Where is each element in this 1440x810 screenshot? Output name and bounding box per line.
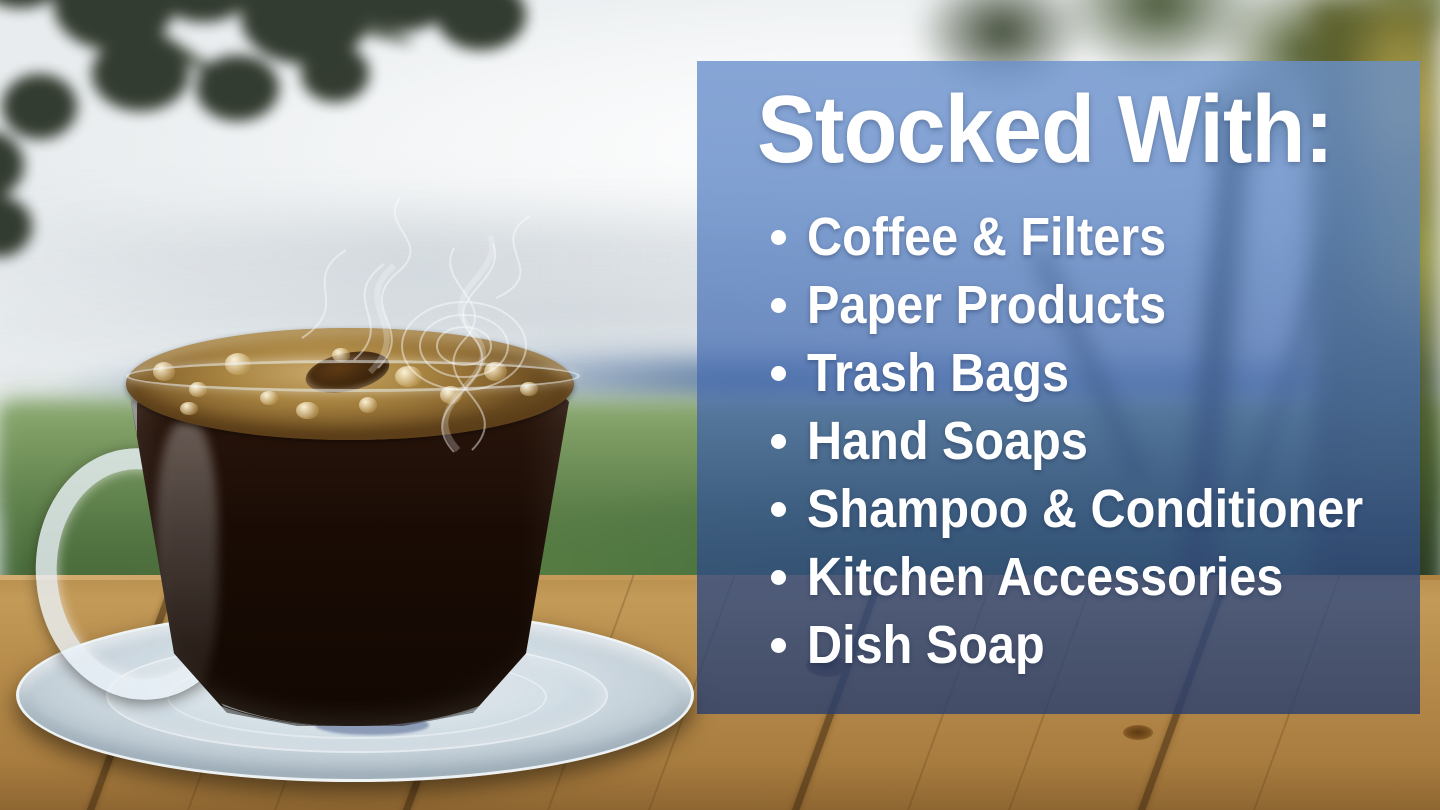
- foam-bubble: [260, 391, 278, 406]
- foam-bubble: [180, 402, 198, 415]
- leaf-cluster: [436, 0, 526, 50]
- list-item-label: Trash Bags: [807, 339, 1069, 407]
- list-item-label: Kitchen Accessories: [807, 543, 1283, 611]
- list-item: Trash Bags: [757, 339, 1390, 407]
- leaf-cluster: [0, 196, 32, 257]
- leaf-cluster: [301, 45, 368, 101]
- stocked-with-panel: Stocked With: Coffee & Filters Paper Pro…: [697, 61, 1420, 714]
- list-item: Kitchen Accessories: [757, 543, 1390, 611]
- foam-bubble: [296, 402, 318, 419]
- leaf-cluster: [2, 74, 77, 140]
- wood-knot: [1123, 725, 1153, 740]
- list-item: Coffee & Filters: [757, 203, 1390, 271]
- leaf-cluster: [196, 55, 278, 121]
- list-item: Paper Products: [757, 271, 1390, 339]
- slide-canvas: Stocked With: Coffee & Filters Paper Pro…: [0, 0, 1440, 810]
- list-item: Dish Soap: [757, 611, 1390, 679]
- page-title: Stocked With:: [757, 79, 1339, 181]
- list-item: Hand Soaps: [757, 407, 1390, 475]
- list-item: Shampoo & Conditioner: [757, 475, 1390, 543]
- stocked-items-list: Coffee & Filters Paper Products Trash Ba…: [757, 203, 1390, 679]
- cup-rim-highlight: [126, 360, 580, 392]
- list-item-label: Hand Soaps: [807, 407, 1088, 475]
- foam-bubble: [359, 397, 377, 413]
- list-item-label: Paper Products: [807, 271, 1166, 339]
- list-item-label: Dish Soap: [807, 611, 1045, 679]
- leaf-cluster: [92, 36, 189, 111]
- glass-coffee-cup: [130, 396, 570, 726]
- list-item-label: Coffee & Filters: [807, 203, 1166, 271]
- leaf-cluster: [0, 130, 24, 200]
- coffee-cup-group: [8, 372, 698, 792]
- list-item-label: Shampoo & Conditioner: [807, 475, 1363, 543]
